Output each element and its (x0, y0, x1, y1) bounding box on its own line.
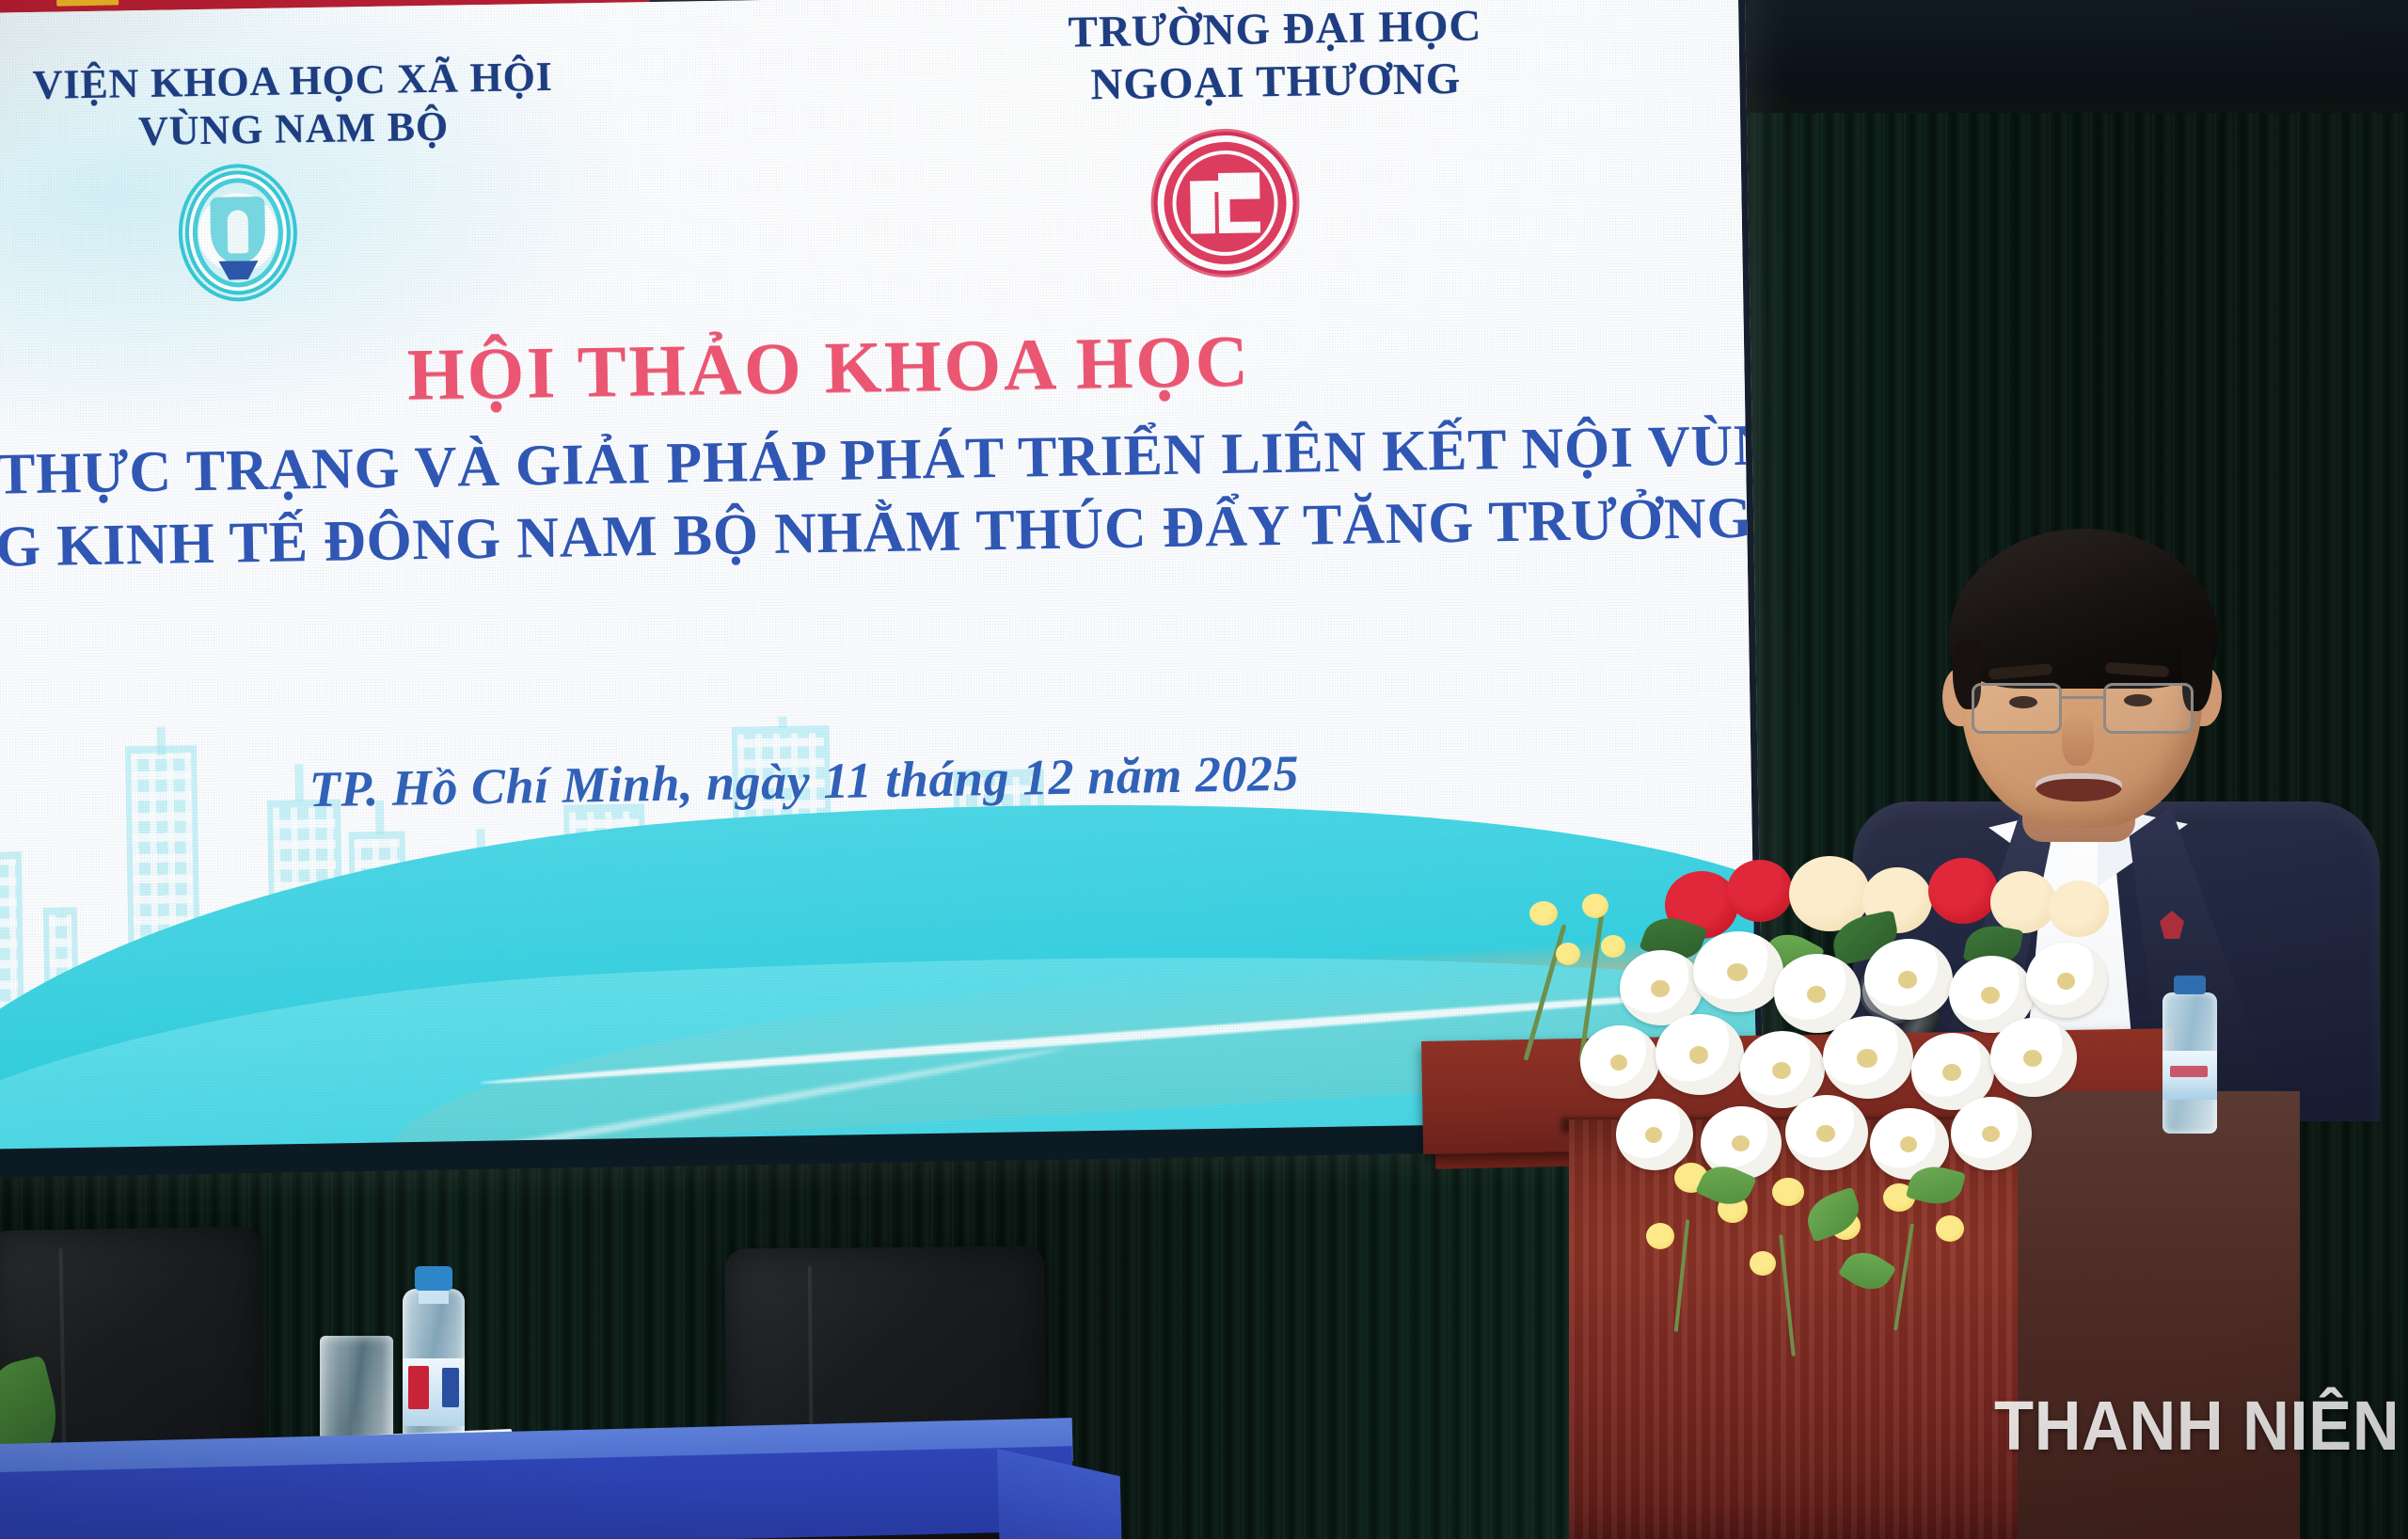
org-right-line2: NGOẠI THƯƠNG (1003, 52, 1549, 114)
org-left-line2: VÙNG NAM BỘ (30, 101, 558, 157)
nose (2062, 711, 2094, 766)
org-left-line1: VIỆN KHOA HỌC XÃ HỘI (29, 53, 557, 109)
hair (1949, 529, 2218, 689)
emblem-base (218, 261, 258, 280)
emblem-shield (210, 197, 265, 263)
bottle-cap (2174, 976, 2206, 994)
conference-photo: VIỆN KHOA HỌC XÃ HỘI VÙNG NAM BỘ TRƯỜNG … (0, 0, 2408, 1539)
mouth (2036, 773, 2122, 801)
org-right-line1: TRƯỜNG ĐẠI HỌC (1002, 0, 1548, 60)
watermark-thanh-nien: THANH NIÊN (1994, 1386, 2400, 1466)
org-right-block: TRƯỜNG ĐẠI HỌC NGOẠI THƯƠNG (1002, 0, 1549, 114)
emblem-monogram (1190, 172, 1260, 233)
banner-glyph (55, 0, 119, 7)
bottle-label (403, 1358, 465, 1426)
viện-khoa-học-xã-hội-emblem-icon (178, 163, 298, 302)
flower-arrangement (1533, 884, 2135, 1411)
org-left-block: VIỆN KHOA HỌC XÃ HỘI VÙNG NAM BỘ (29, 53, 558, 157)
bottle-cap (415, 1266, 452, 1291)
ftu-emblem-icon (1152, 131, 1297, 276)
projection-screen: VIỆN KHOA HỌC XÃ HỘI VÙNG NAM BỘ TRƯỜNG … (0, 0, 1764, 1172)
slide-title: HỘI THẢO KHOA HỌC (358, 318, 1300, 419)
bottle-label (2162, 1051, 2217, 1100)
water-bottle-podium (2162, 992, 2217, 1134)
